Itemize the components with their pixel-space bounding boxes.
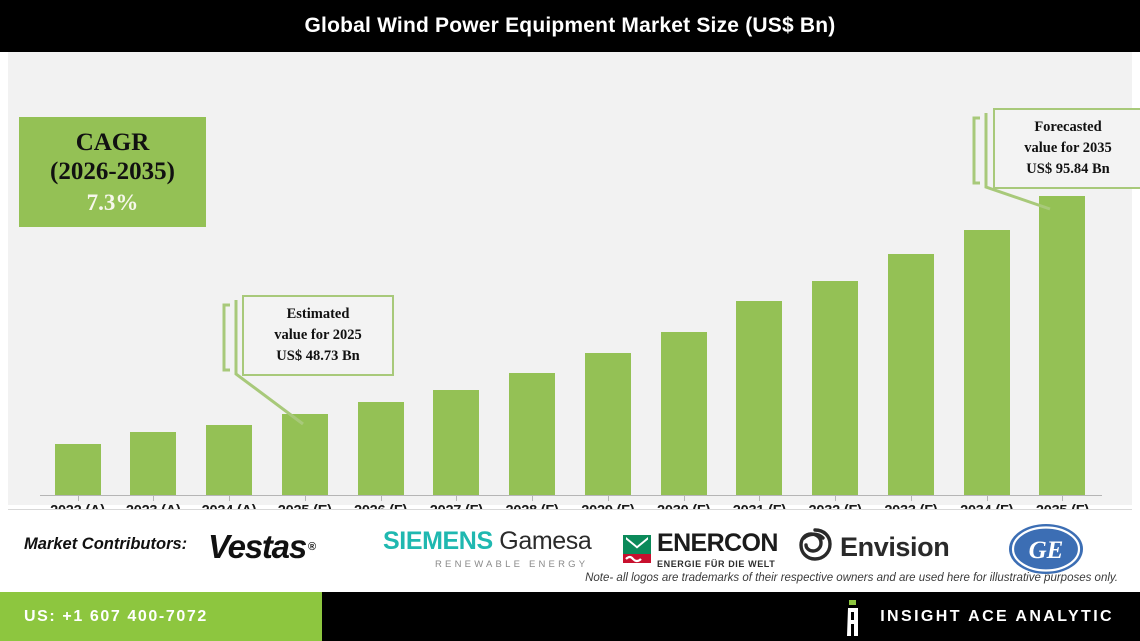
- bar-slot: [646, 52, 721, 495]
- logo-siemens-subtitle: RENEWABLE ENERGY: [435, 559, 588, 570]
- footer-brand-name: INSIGHT ACE ANALYTIC: [880, 608, 1114, 626]
- callout-estimated-2025: Estimated value for 2025 US$ 48.73 Bn: [242, 295, 394, 376]
- logo-siemens-text: SIEMENS: [383, 527, 493, 555]
- callout-estimated-line2: value for 2025: [254, 325, 382, 346]
- bar-slot: [343, 52, 418, 495]
- infographic-page: Global Wind Power Equipment Market Size …: [0, 0, 1140, 641]
- callout-forecasted-2035: Forecasted value for 2035 US$ 95.84 Bn: [993, 108, 1140, 189]
- insightace-logo-icon: [840, 600, 866, 634]
- logo-envision-text: Envision: [840, 532, 949, 563]
- svg-text:GE: GE: [1029, 537, 1064, 564]
- footer-contact-block: US: +1 607 400-7072: [0, 592, 322, 641]
- bar-slot: [798, 52, 873, 495]
- chart-area: 2022 (A)2023 (A)2024 (A)2025 (E)2026 (F)…: [8, 52, 1132, 505]
- callout-forecasted-line2: value for 2035: [1005, 138, 1131, 159]
- bar-2025[interactable]: [282, 414, 328, 495]
- bar-slot: [722, 52, 797, 495]
- page-title: Global Wind Power Equipment Market Size …: [305, 14, 836, 38]
- bar-2023[interactable]: [130, 432, 176, 495]
- callout-forecasted-line1: Forecasted: [1005, 117, 1131, 138]
- logo-vestas-text: Vestas: [208, 528, 306, 566]
- bar-2022[interactable]: [55, 444, 101, 495]
- bar-2030[interactable]: [661, 332, 707, 495]
- bar-2032[interactable]: [812, 281, 858, 495]
- bar-slot: [419, 52, 494, 495]
- logo-general-electric: GE: [1008, 522, 1084, 576]
- cagr-value: 7.3%: [87, 189, 139, 216]
- bar-slot: [267, 52, 342, 495]
- title-bar: Global Wind Power Equipment Market Size …: [0, 0, 1140, 52]
- enercon-mark-icon: [623, 535, 651, 563]
- logo-enercon: ENERCON ENERGIE FÜR DIE WELT: [623, 529, 778, 569]
- bar-2029[interactable]: [585, 353, 631, 495]
- logo-siemens-gamesa: SIEMENS Gamesa RENEWABLE ENERGY: [383, 527, 591, 570]
- cagr-period: (2026-2035): [50, 157, 175, 187]
- bar-slot: [495, 52, 570, 495]
- x-axis-line: [40, 495, 1102, 496]
- bar-2033[interactable]: [888, 254, 934, 495]
- cagr-badge: CAGR (2026-2035) 7.3%: [19, 117, 206, 227]
- envision-swirl-icon: [798, 528, 832, 567]
- logo-enercon-subtitle: ENERGIE FÜR DIE WELT: [657, 559, 778, 569]
- ge-monogram-icon: GE: [1008, 522, 1084, 576]
- logo-vestas: Vestas®: [208, 528, 315, 566]
- callout-estimated-line1: Estimated: [254, 304, 382, 325]
- logo-trademark-note: Note- all logos are trademarks of their …: [585, 572, 1118, 584]
- callout-forecasted-line3: US$ 95.84 Bn: [1005, 159, 1131, 180]
- footer-phone: US: +1 607 400-7072: [24, 608, 208, 626]
- logo-vestas-registered: ®: [308, 541, 315, 553]
- bar-2027[interactable]: [433, 390, 479, 495]
- logo-envision: Envision: [798, 528, 949, 567]
- logo-enercon-text: ENERCON: [657, 529, 778, 558]
- bar-2024[interactable]: [206, 425, 252, 495]
- bar-2028[interactable]: [509, 373, 555, 495]
- cagr-label: CAGR: [76, 128, 150, 158]
- logo-gamesa-text: Gamesa: [499, 527, 591, 555]
- market-contributors-strip: Market Contributors: Vestas® SIEMENS Gam…: [8, 509, 1132, 589]
- bar-slot: [570, 52, 645, 495]
- bar-slot: [873, 52, 948, 495]
- bar-2034[interactable]: [964, 230, 1010, 495]
- bar-2031[interactable]: [736, 301, 782, 495]
- footer-brand-block: INSIGHT ACE ANALYTIC: [322, 592, 1140, 641]
- footer-bar: US: +1 607 400-7072 INSIGHT ACE ANALYTIC: [0, 592, 1140, 641]
- callout-estimated-line3: US$ 48.73 Bn: [254, 346, 382, 367]
- bar-2035[interactable]: [1039, 196, 1085, 495]
- bar-2026[interactable]: [358, 402, 404, 495]
- market-contributors-label: Market Contributors:: [24, 535, 187, 554]
